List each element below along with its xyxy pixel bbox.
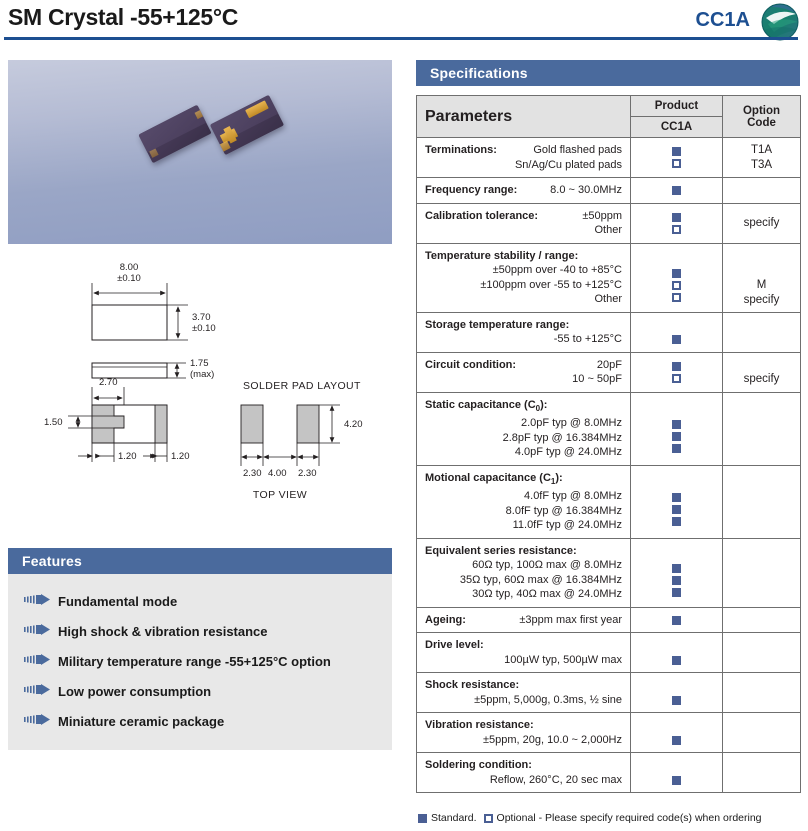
spacer [631,638,722,653]
features-list: Fundamental mode High shock & vibration … [8,574,392,750]
option-codes [723,673,801,713]
table-row: Frequency range:8.0 ~ 30.0MHz [417,178,801,204]
param-value: 4.0pF typ @ 24.0MHz [425,445,622,460]
param-label: Vibration resistance: [425,718,622,733]
option-codes [723,633,801,673]
param-label: Shock resistance: [425,678,622,693]
param-label-pre: Motional capacitance (C [425,472,551,484]
param-value: Other [425,223,622,238]
optional-marker [672,281,681,290]
product-marks [631,753,723,793]
optional-marker [672,159,681,168]
param-value: Gold flashed pads [533,143,622,158]
param-value: 8.0 ~ 30.0MHz [550,183,622,198]
param-label: Drive level: [425,638,622,653]
standard-marker [672,186,681,195]
company-logo-icon [760,2,800,42]
param-value: 10 ~ 50pF [425,372,622,387]
specifications-table: Parameters Product Option Code CC1A Term… [416,95,801,793]
table-row: Equivalent series resistance: 60Ω typ, 1… [417,538,801,607]
param-calibration-tolerance: Calibration tolerance:±50ppm Other [417,203,631,243]
optional-marker-legend-icon [484,814,493,823]
product-photo [8,60,392,244]
product-marks [631,465,723,538]
specifications-section-title: Specifications [416,60,800,86]
param-label: Motional capacitance (C1): [425,471,622,490]
page-title: SM Crystal -55+125°C [8,4,238,31]
column-header-parameters: Parameters [417,96,631,138]
arrow-icon [24,622,58,640]
param-value: ±50ppm [582,209,622,224]
standard-marker [672,444,681,453]
product-marks [631,673,723,713]
dim-pad-1-50: 1.50 [44,417,63,428]
param-value: 30Ω typ, 40Ω max @ 24.0MHz [425,587,622,602]
feature-item: Military temperature range -55+125°C opt… [8,646,392,676]
solder-pad-layout-title: SOLDER PAD LAYOUT [243,380,361,392]
spacer [631,678,722,693]
param-vibration-resistance: Vibration resistance: ±5ppm, 20g, 10.0 ~… [417,713,631,753]
features-section-title: Features [8,548,392,574]
spacer [631,251,722,266]
feature-label: Low power consumption [58,684,211,699]
arrow-icon [24,712,58,730]
specifications-section: Specifications Parameters Product Option… [416,60,800,793]
standard-marker [672,269,681,278]
standard-marker [672,147,681,156]
param-drive-level: Drive level: 100µW typ, 500µW max [417,633,631,673]
column-header-product-variant: CC1A [631,117,723,138]
standard-marker [672,432,681,441]
param-equivalent-series-resistance: Equivalent series resistance: 60Ω typ, 1… [417,538,631,607]
feature-item: Low power consumption [8,676,392,706]
param-label-pre: Static capacitance (C [425,399,536,411]
features-section: Features Fundamental mode [8,548,392,750]
table-row: Soldering condition: Reflow, 260°C, 20 s… [417,753,801,793]
dim-thickness-value: 1.75 [190,358,209,369]
column-header-option: Option [723,105,800,117]
option-code: T3A [723,158,800,173]
param-label: Static capacitance (C0): [425,398,622,417]
header-divider [4,37,798,40]
param-label: Storage temperature range: [425,318,622,333]
param-value: 60Ω typ, 100Ω max @ 8.0MHz [425,558,622,573]
product-marks [631,312,723,352]
table-header-row: Parameters Product Option Code [417,96,801,117]
standard-marker [672,564,681,573]
param-value: 4.0fF typ @ 8.0MHz [425,489,622,504]
arrow-icon [24,592,58,610]
table-row: Terminations:Gold flashed pads Sn/Ag/Cu … [417,138,801,178]
column-header-option-code: Option Code [723,96,801,138]
param-value: 20pF [597,358,622,373]
standard-marker [672,420,681,429]
param-temperature-stability: Temperature stability / range: ±50ppm ov… [417,243,631,312]
table-row: Storage temperature range: -55 to +125°C [417,312,801,352]
standard-marker [672,696,681,705]
table-row: Drive level: 100µW typ, 500µW max [417,633,801,673]
column-header-product: Product [631,96,723,117]
option-codes [723,713,801,753]
feature-item: Miniature ceramic package [8,706,392,736]
table-row: Shock resistance: ±5ppm, 5,000g, 0.3ms, … [417,673,801,713]
product-marks [631,352,723,392]
option-code: specify [723,216,800,231]
param-label: Calibration tolerance: [425,209,538,224]
option-code: specify [723,293,800,308]
optional-marker [672,225,681,234]
feature-item: Fundamental mode [8,586,392,616]
param-label: Frequency range: [425,183,517,198]
option-codes: specify [723,203,801,243]
dim-pad-1-20-a: 1.20 [118,451,137,462]
spacer [631,317,722,332]
param-value: ±50ppm over -40 to +85°C [425,263,622,278]
product-code-heading: CC1A [696,9,750,32]
standard-marker [672,493,681,502]
product-marks [631,607,723,633]
standard-marker [672,576,681,585]
dim-pad-1-20-b: 1.20 [171,451,190,462]
param-value: ±5ppm, 5,000g, 0.3ms, ½ sine [425,693,622,708]
column-header-code: Code [723,117,800,129]
option-codes [723,753,801,793]
table-row: Ageing:±3ppm max first year [417,607,801,633]
param-value: 2.8pF typ @ 16.384MHz [425,431,622,446]
product-marks [631,392,723,465]
param-ageing: Ageing:±3ppm max first year [417,607,631,633]
param-label-post: ): [555,472,562,484]
option-codes: specify [723,352,801,392]
standard-marker [672,362,681,371]
param-value: Sn/Ag/Cu plated pads [425,158,622,173]
mechanical-drawing: .ln { stroke:#231f20; stroke-width:1; fi… [0,250,400,535]
standard-marker [672,517,681,526]
table-row: Calibration tolerance:±50ppm Other speci… [417,203,801,243]
option-code: specify [723,372,800,387]
dim-pad-2-70: 2.70 [99,377,118,388]
optional-marker [672,374,681,383]
spacer [631,475,722,490]
param-storage-temperature: Storage temperature range: -55 to +125°C [417,312,631,352]
dim-height-tolerance: ±0.10 [192,323,216,334]
spacer [631,546,722,561]
table-legend: Standard. Optional - Please specify requ… [418,812,762,824]
arrow-icon [24,682,58,700]
param-shock-resistance: Shock resistance: ±5ppm, 5,000g, 0.3ms, … [417,673,631,713]
option-codes [723,392,801,465]
feature-label: Fundamental mode [58,594,177,609]
legend-optional-text: Optional - Please specify required code(… [497,812,762,824]
table-row: Temperature stability / range: ±50ppm ov… [417,243,801,312]
param-soldering-condition: Soldering condition: Reflow, 260°C, 20 s… [417,753,631,793]
dim-thickness-note: (max) [190,369,214,380]
param-value: 11.0fF typ @ 24.0MHz [425,518,622,533]
feature-item: High shock & vibration resistance [8,616,392,646]
legend-standard-text: Standard. [431,812,477,824]
product-marks [631,243,723,312]
product-marks [631,203,723,243]
option-codes: M specify [723,243,801,312]
param-frequency-range: Frequency range:8.0 ~ 30.0MHz [417,178,631,204]
param-value: -55 to +125°C [425,332,622,347]
param-value: 35Ω typ, 60Ω max @ 16.384MHz [425,573,622,588]
standard-marker [672,505,681,514]
product-marks [631,178,723,204]
param-label: Equivalent series resistance: [425,544,622,559]
standard-marker [672,335,681,344]
standard-marker [672,656,681,665]
dim-height-value: 3.70 [192,312,211,323]
table-row: Motional capacitance (C1): 4.0fF typ @ 8… [417,465,801,538]
dim-solder-2-30-b: 2.30 [298,468,317,479]
option-code: T1A [723,143,800,158]
param-value: ±100ppm over -55 to +125°C [425,278,622,293]
crystal-package-left [138,105,211,163]
product-marks [631,138,723,178]
datasheet-page: SM Crystal -55+125°C CC1A [0,0,808,831]
product-marks [631,538,723,607]
feature-label: Military temperature range -55+125°C opt… [58,654,331,669]
standard-marker [672,776,681,785]
param-value: Other [425,292,622,307]
option-codes [723,465,801,538]
top-view-label: TOP VIEW [253,489,307,501]
dim-solder-4-00: 4.00 [268,468,287,479]
dim-solder-2-30-a: 2.30 [243,468,262,479]
param-motional-capacitance: Motional capacitance (C1): 4.0fF typ @ 8… [417,465,631,538]
param-value: 2.0pF typ @ 8.0MHz [425,416,622,431]
param-value: Reflow, 260°C, 20 sec max [425,773,622,788]
option-codes [723,178,801,204]
spacer [631,718,722,733]
option-codes [723,607,801,633]
param-label: Temperature stability / range: [425,249,622,264]
param-value: ±3ppm max first year [519,613,622,628]
param-static-capacitance: Static capacitance (C0): 2.0pF typ @ 8.0… [417,392,631,465]
param-circuit-condition: Circuit condition:20pF 10 ~ 50pF [417,352,631,392]
param-label: Ageing: [425,613,466,628]
crystal-package-right [210,95,284,155]
option-codes: T1A T3A [723,138,801,178]
param-label: Soldering condition: [425,758,622,773]
option-codes [723,538,801,607]
param-label-post: ): [540,399,547,411]
option-code: M [723,278,800,293]
standard-marker [672,736,681,745]
product-marks [631,633,723,673]
param-value: ±5ppm, 20g, 10.0 ~ 2,000Hz [425,733,622,748]
feature-label: Miniature ceramic package [58,714,224,729]
param-value: 8.0fF typ @ 16.384MHz [425,504,622,519]
arrow-icon [24,652,58,670]
param-terminations: Terminations:Gold flashed pads Sn/Ag/Cu … [417,138,631,178]
dim-width-tolerance: ±0.10 [117,273,141,284]
option-codes [723,312,801,352]
standard-marker-legend-icon [418,814,427,823]
param-label: Terminations: [425,143,497,158]
optional-marker [672,293,681,302]
spacer [631,402,722,417]
standard-marker [672,588,681,597]
dim-solder-4-20: 4.20 [344,419,363,430]
table-row: Static capacitance (C0): 2.0pF typ @ 8.0… [417,392,801,465]
product-marks [631,713,723,753]
param-label: Circuit condition: [425,358,516,373]
spacer [631,758,722,773]
feature-label: High shock & vibration resistance [58,624,268,639]
param-value: 100µW typ, 500µW max [425,653,622,668]
page-header: SM Crystal -55+125°C CC1A [0,0,808,46]
standard-marker [672,616,681,625]
table-row: Vibration resistance: ±5ppm, 20g, 10.0 ~… [417,713,801,753]
dim-width-value: 8.00 [120,262,139,273]
table-row: Circuit condition:20pF 10 ~ 50pF specify [417,352,801,392]
standard-marker [672,213,681,222]
